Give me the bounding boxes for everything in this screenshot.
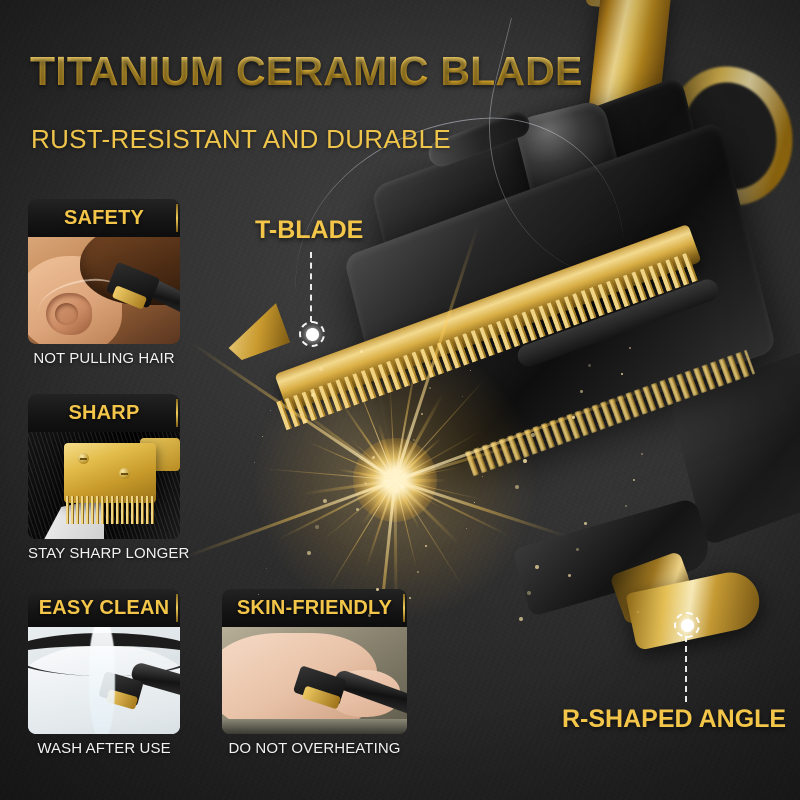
feature-card-header: SKIN-FRIENDLY: [222, 589, 407, 627]
sparkle-particle: [478, 344, 479, 345]
sparkle-particle: [482, 476, 483, 477]
sparkle-particle: [470, 370, 471, 371]
callout-leader-line-r-shaped-angle: [685, 636, 687, 702]
sparkle-particle: [323, 499, 327, 503]
sparkle-particle: [621, 373, 623, 375]
feature-card-caption: STAY SHARP LONGER: [28, 545, 180, 562]
page-subtitle: RUST-RESISTANT AND DURABLE: [31, 124, 451, 155]
photo-layer-foreground-strip: [222, 719, 407, 734]
sparkle-particle: [360, 350, 363, 353]
sparkle-particle: [372, 456, 375, 459]
callout-leader-line-t-blade: [310, 252, 312, 322]
sparkle-particle: [376, 588, 379, 591]
feature-card-title: SAFETY: [64, 207, 144, 230]
sparkle-particle: [409, 597, 411, 599]
sparkle-particle: [254, 462, 255, 463]
sparkle-particle: [270, 410, 271, 411]
feature-card-sharp: SHARP STAY SHARP LONGER: [28, 394, 180, 562]
sparkle-particle: [519, 617, 523, 621]
sparkle-particle: [515, 485, 519, 489]
sparkle-particle: [315, 525, 319, 529]
feature-card-easy-clean: EASY CLEAN WASH AFTER USE: [28, 589, 180, 757]
feature-card-header: SHARP: [28, 394, 180, 432]
sparkle-particle: [474, 502, 475, 503]
sparkle-particle: [421, 413, 423, 415]
sparkle-particle: [262, 436, 263, 437]
sparkle-particle: [531, 433, 535, 437]
feature-card-caption: DO NOT OVERHEATING: [222, 740, 407, 757]
sparkle-particle: [462, 396, 463, 397]
sparkle-particle: [364, 482, 367, 485]
sparkle-particle: [466, 528, 467, 529]
sparkle-particle: [568, 574, 571, 577]
sparkle-particle: [368, 614, 371, 617]
sparkle-particle: [637, 611, 639, 613]
callout-label-t-blade: T-BLADE: [255, 216, 363, 245]
page-title: TITANIUM CERAMIC BLADE: [30, 48, 583, 95]
sparkle-particle: [266, 568, 267, 569]
photo-layer-water-stream: [89, 627, 115, 734]
photo-layer-gold-blade: [64, 443, 155, 503]
sparkle-particle: [535, 565, 539, 569]
callout-dot-marker-r-shaped-angle: [674, 612, 700, 638]
sparkle-particle: [576, 548, 579, 551]
feature-card-caption: WASH AFTER USE: [28, 740, 180, 757]
sparkle-particle: [588, 364, 591, 367]
feature-card-photo-safety: [28, 237, 180, 344]
feature-card-caption: NOT PULLING HAIR: [28, 350, 180, 367]
sparkle-particle: [580, 390, 583, 393]
sparkle-particle: [523, 459, 527, 463]
feature-card-skin-friendly: SKIN-FRIENDLY DO NOT OVERHEATING: [222, 589, 407, 757]
product-feature-graphic: TITANIUM CERAMIC BLADE RUST-RESISTANT AN…: [0, 0, 800, 800]
sparkle-particle: [311, 393, 315, 397]
sparkle-particle: [527, 591, 531, 595]
sparkle-particle: [572, 416, 575, 419]
feature-card-header: EASY CLEAN: [28, 589, 180, 627]
sparkle-particle: [584, 522, 587, 525]
feature-card-safety: SAFETY NOT PULLING HAIR: [28, 199, 180, 367]
feature-card-photo-sharp: [28, 432, 180, 539]
sparkle-particle: [625, 505, 627, 507]
sparkle-particle: [356, 508, 359, 511]
sparkle-particle: [629, 347, 631, 349]
sparkle-particle: [641, 453, 643, 455]
callout-label-r-shaped-angle: R-SHAPED ANGLE: [562, 705, 786, 734]
sparkle-particle: [250, 330, 251, 331]
sparkle-particle: [425, 545, 427, 547]
sparkle-particle: [429, 387, 431, 389]
feature-card-photo-skin-friendly: [222, 627, 407, 734]
feature-card-title: SHARP: [68, 402, 139, 425]
sparkle-particle: [319, 367, 323, 371]
sparkle-particle: [303, 419, 307, 423]
callout-dot-marker-t-blade: [299, 321, 325, 347]
sparkle-particle: [413, 439, 415, 441]
sparkle-particle: [258, 594, 259, 595]
sparkle-particle: [307, 551, 311, 555]
sparkle-particle: [417, 571, 419, 573]
photo-layer-blade-teeth: [66, 496, 154, 524]
sparkle-particle: [633, 479, 635, 481]
feature-card-photo-easy-clean: [28, 627, 180, 734]
feature-card-header: SAFETY: [28, 199, 180, 237]
photo-layer-ear-inner: [55, 303, 78, 324]
feature-card-title: EASY CLEAN: [39, 597, 170, 620]
